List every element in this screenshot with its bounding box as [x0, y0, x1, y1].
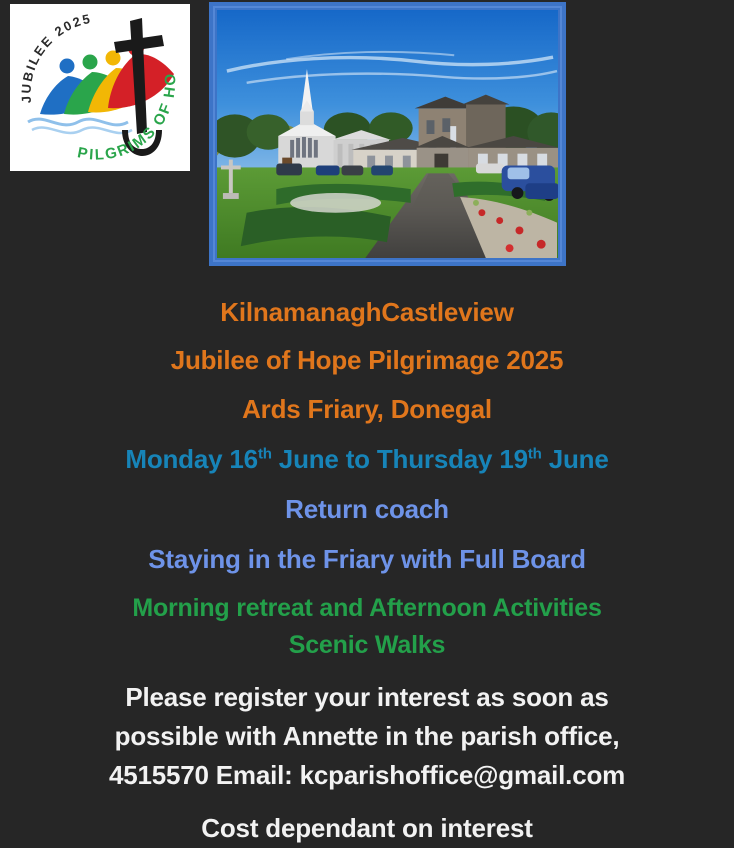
dates-day1-prefix: Monday 16 [125, 444, 258, 474]
ards-friary-photo-frame [209, 2, 566, 266]
line-contact-email: 4515570 Email: kcparishoffice@gmail.com [0, 762, 734, 788]
photo-inner-border [213, 6, 562, 262]
line-register-2: possible with Annette in the parish offi… [0, 723, 734, 749]
line-cost: Cost dependant on interest [0, 815, 734, 841]
line-full-board: Staying in the Friary with Full Board [0, 546, 734, 572]
ards-friary-photo [217, 10, 558, 258]
line-parish: KilnamanaghCastleview [0, 299, 734, 325]
jubilee-logo-card: JUBILEE 2025 PILGRIMS OF HOPE [10, 4, 190, 171]
dates-day2-ordinal: th [528, 445, 542, 462]
line-activities: Morning retreat and Afternoon Activities [0, 596, 734, 621]
pilgrimage-poster: JUBILEE 2025 PILGRIMS OF HOPE [0, 0, 734, 848]
poster-text-block: KilnamanaghCastleview Jubilee of Hope Pi… [0, 272, 734, 841]
dates-suffix: June [542, 444, 609, 474]
line-dates: Monday 16th June to Thursday 19th June [0, 446, 734, 472]
ards-friary-image [217, 10, 558, 258]
line-register-1: Please register your interest as soon as [0, 684, 734, 710]
jubilee-2025-logo-icon: JUBILEE 2025 PILGRIMS OF HOPE [10, 4, 190, 171]
dates-day1-ordinal: th [258, 445, 272, 462]
line-scenic-walks: Scenic Walks [0, 633, 734, 658]
dates-middle: June to Thursday 19 [272, 444, 528, 474]
line-return-coach: Return coach [0, 496, 734, 522]
poster-media-row: JUBILEE 2025 PILGRIMS OF HOPE [0, 0, 734, 272]
line-event: Jubilee of Hope Pilgrimage 2025 [0, 347, 734, 373]
line-venue: Ards Friary, Donegal [0, 396, 734, 422]
